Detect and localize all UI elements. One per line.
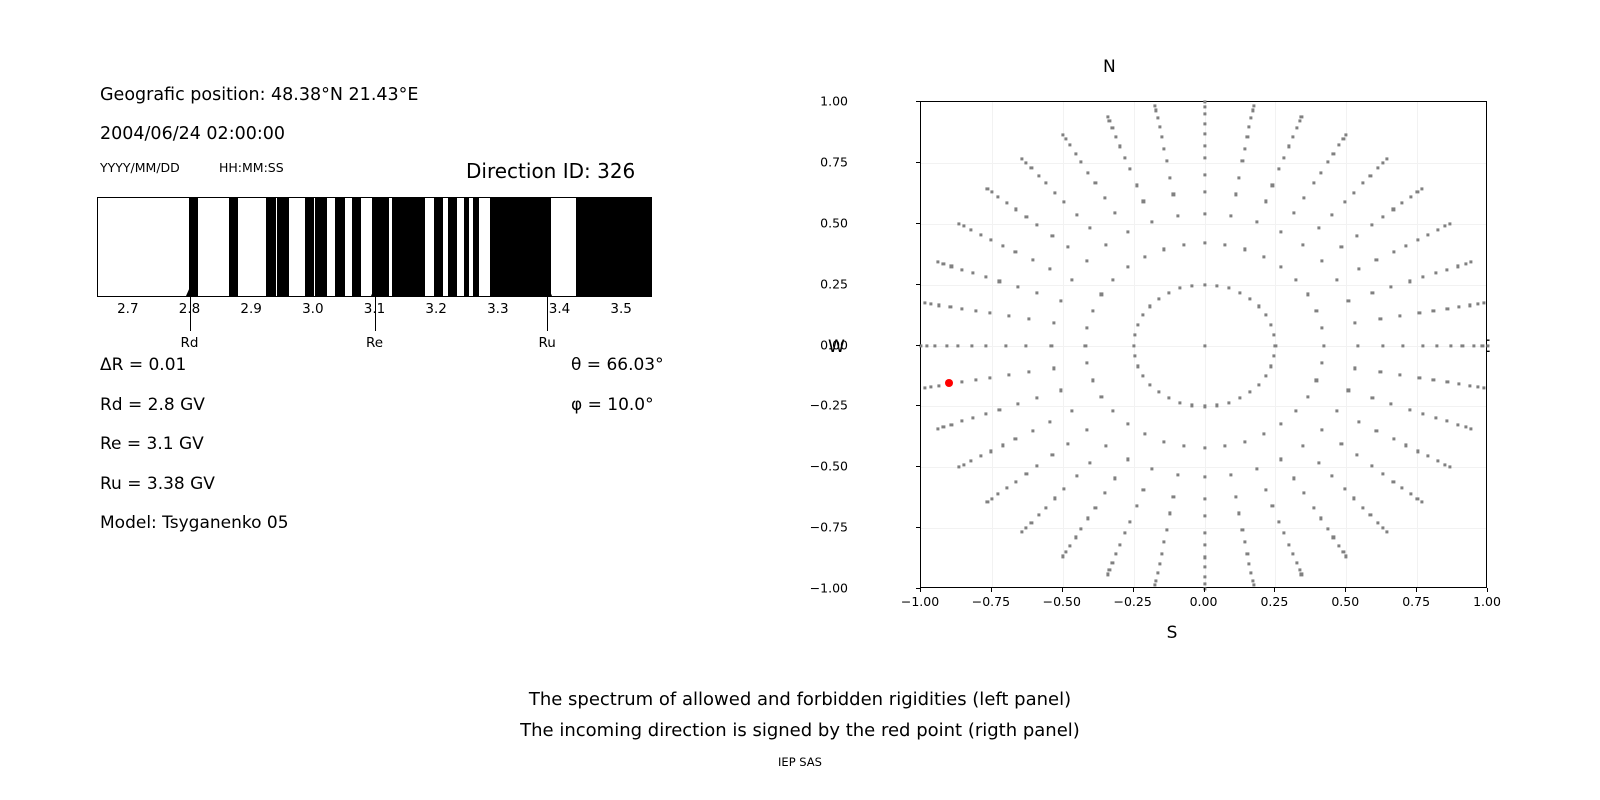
- direction-point: [1014, 438, 1017, 441]
- direction-point: [1371, 396, 1374, 399]
- direction-point: [1264, 200, 1267, 203]
- direction-point: [1482, 386, 1485, 389]
- direction-point: [1203, 446, 1206, 449]
- direction-point: [1227, 401, 1230, 404]
- direction-point: [1203, 132, 1206, 135]
- direction-point: [1432, 309, 1435, 312]
- direction-point: [1157, 391, 1160, 394]
- direction-point: [1292, 211, 1295, 214]
- direction-point: [1215, 284, 1218, 287]
- direction-point: [1320, 259, 1323, 262]
- scatter-ytick-mark: [916, 527, 920, 528]
- direction-point: [1278, 168, 1281, 171]
- direction-point: [1151, 467, 1154, 470]
- direction-point: [1119, 543, 1122, 546]
- direction-point: [1126, 422, 1129, 425]
- direction-point: [1104, 492, 1107, 495]
- scatter-ytick-label: −0.25: [810, 398, 848, 413]
- direction-point: [1036, 223, 1039, 226]
- direction-point: [1061, 555, 1064, 558]
- direction-point: [1111, 127, 1114, 130]
- spectrum-bands-area: [97, 197, 652, 297]
- direction-point: [1203, 156, 1206, 159]
- direction-point: [1361, 506, 1364, 509]
- direction-point: [1203, 497, 1206, 500]
- direction-point: [924, 386, 927, 389]
- direction-point: [1160, 135, 1163, 138]
- direction-point: [1086, 362, 1089, 365]
- forbidden-band: [335, 198, 344, 296]
- direction-point: [1315, 379, 1318, 382]
- direction-point: [1203, 191, 1206, 194]
- scatter-ytick-label: 0.50: [820, 215, 848, 230]
- direction-point: [1074, 152, 1077, 155]
- scatter-ytick-mark: [916, 162, 920, 163]
- direction-point: [1370, 223, 1373, 226]
- direction-point: [950, 423, 953, 426]
- direction-point: [1375, 259, 1378, 262]
- direction-point: [1398, 314, 1401, 317]
- direction-point: [1322, 344, 1325, 347]
- direction-point: [1421, 412, 1424, 415]
- direction-point: [1273, 354, 1276, 357]
- direction-point: [1088, 226, 1091, 229]
- direction-point: [1274, 344, 1277, 347]
- direction-point: [962, 463, 965, 466]
- direction-point: [1244, 248, 1247, 251]
- direction-point: [1203, 113, 1206, 116]
- direction-point: [1203, 514, 1206, 517]
- direction-point: [1361, 182, 1364, 185]
- direction-point: [1376, 167, 1379, 170]
- direction-point: [1224, 445, 1227, 448]
- direction-point: [1133, 333, 1136, 336]
- scatter-ytick-label: 0.25: [820, 276, 848, 291]
- direction-point: [1435, 416, 1438, 419]
- direction-point: [1404, 444, 1407, 447]
- parameter-line: Model: Tsyganenko 05: [100, 513, 289, 533]
- direction-point: [988, 311, 991, 314]
- direction-point: [1301, 445, 1304, 448]
- spectrum-x-axis: 2.72.82.93.03.13.23.33.43.5RdReRu: [97, 297, 652, 357]
- direction-point: [1048, 267, 1051, 270]
- direction-point: [1343, 200, 1346, 203]
- direction-point: [1477, 385, 1480, 388]
- direction-point: [1355, 234, 1358, 237]
- forbidden-band: [189, 198, 198, 296]
- direction-point: [1401, 344, 1404, 347]
- direction-point: [1250, 572, 1253, 575]
- direction-point: [1203, 100, 1206, 103]
- direction-point: [1248, 297, 1251, 300]
- direction-point: [1420, 500, 1423, 503]
- direction-point: [1182, 243, 1185, 246]
- direction-point: [1246, 135, 1249, 138]
- direction-point: [1155, 109, 1158, 112]
- rigidity-marker-re: [375, 287, 376, 331]
- direction-point: [1426, 233, 1429, 236]
- scatter-xtick-mark: [1274, 588, 1275, 592]
- direction-point: [1282, 156, 1285, 159]
- direction-point: [1243, 147, 1246, 150]
- direction-point: [1050, 344, 1053, 347]
- spectrum-xtick-label: 3.5: [610, 301, 631, 317]
- direction-point: [1143, 432, 1146, 435]
- direction-point: [1398, 374, 1401, 377]
- scatter-xtick-label: −0.50: [1043, 594, 1081, 609]
- direction-point: [1053, 191, 1056, 194]
- direction-point: [949, 305, 952, 308]
- direction-point: [1404, 244, 1407, 247]
- direction-point: [1271, 184, 1274, 187]
- direction-point: [1248, 391, 1251, 394]
- direction-point: [1392, 438, 1395, 441]
- direction-point: [1370, 464, 1373, 467]
- direction-point: [1024, 161, 1027, 164]
- scatter-ytick-mark: [916, 466, 920, 467]
- geographic-position-text: Geografic position: 48.38°N 21.43°E: [100, 85, 418, 105]
- direction-point: [937, 427, 940, 430]
- direction-point: [1112, 410, 1115, 413]
- direction-point: [1203, 122, 1206, 125]
- direction-point: [1132, 344, 1135, 347]
- angle-parameter-line: θ = 66.03°: [571, 355, 664, 375]
- direction-point: [1330, 474, 1333, 477]
- direction-point: [1294, 278, 1297, 281]
- direction-point: [1203, 344, 1206, 347]
- direction-point: [1234, 193, 1237, 196]
- direction-point: [989, 238, 992, 241]
- direction-point: [1084, 344, 1087, 347]
- direction-point: [1270, 323, 1273, 326]
- direction-point: [1025, 216, 1028, 219]
- datetime-text: 2004/06/24 02:00:00: [100, 124, 285, 144]
- direction-point: [1445, 268, 1448, 271]
- direction-point: [1326, 527, 1329, 530]
- direction-point: [970, 228, 973, 231]
- direction-point: [1086, 326, 1089, 329]
- direction-point: [1343, 488, 1346, 491]
- angle-parameter-line: φ = 10.0°: [571, 395, 654, 415]
- direction-point: [1457, 305, 1460, 308]
- direction-point: [984, 276, 987, 279]
- direction-point: [1100, 293, 1103, 296]
- direction-point: [1088, 461, 1091, 464]
- direction-point: [1080, 527, 1083, 530]
- scatter-ytick-label: 0.75: [820, 154, 848, 169]
- direction-point: [1005, 486, 1008, 489]
- direction-point: [925, 344, 928, 347]
- scatter-xtick-mark: [991, 588, 992, 592]
- direction-point: [1115, 552, 1118, 555]
- spectrum-xtick-label: 3.0: [302, 301, 323, 317]
- direction-point: [1002, 244, 1005, 247]
- gridline-vertical: [1417, 102, 1418, 587]
- direction-point: [1445, 420, 1448, 423]
- direction-point: [1165, 529, 1168, 532]
- direction-point: [934, 344, 937, 347]
- direction-point: [1158, 126, 1161, 129]
- forbidden-band: [352, 198, 361, 296]
- direction-point: [1358, 421, 1361, 424]
- direction-point: [1287, 145, 1290, 148]
- direction-point: [1300, 573, 1303, 576]
- direction-point: [1251, 579, 1254, 582]
- forbidden-band: [372, 198, 389, 296]
- direction-point: [938, 304, 941, 307]
- direction-point: [1086, 259, 1089, 262]
- direction-point: [1270, 365, 1273, 368]
- gridline-vertical: [992, 102, 993, 587]
- time-format-hint: HH:MM:SS: [219, 160, 284, 175]
- direction-id-text: Direction ID: 326: [466, 159, 635, 183]
- direction-point: [1389, 402, 1392, 405]
- direction-point: [1136, 365, 1139, 368]
- scatter-ytick-mark: [916, 405, 920, 406]
- direction-point: [1027, 317, 1030, 320]
- direction-point: [1115, 136, 1118, 139]
- direction-point: [1031, 259, 1034, 262]
- direction-point: [1352, 191, 1355, 194]
- direction-point: [1162, 248, 1165, 251]
- direction-point: [1278, 520, 1281, 523]
- direction-point: [1037, 514, 1040, 517]
- direction-point: [1392, 250, 1395, 253]
- direction-point: [1151, 220, 1154, 223]
- direction-point: [1354, 367, 1357, 370]
- direction-point: [1070, 410, 1073, 413]
- direction-point: [1094, 506, 1097, 509]
- rigidity-marker-label-re: Re: [366, 335, 383, 351]
- forbidden-band: [266, 198, 275, 296]
- direction-point: [1347, 389, 1350, 392]
- direction-point: [1094, 182, 1097, 185]
- direction-point: [1392, 208, 1395, 211]
- direction-point: [1482, 302, 1485, 305]
- direction-point: [1347, 299, 1350, 302]
- direction-point: [1156, 572, 1159, 575]
- direction-point: [1332, 536, 1335, 539]
- direction-point: [1104, 196, 1107, 199]
- direction-point: [1251, 109, 1254, 112]
- direction-point: [1354, 321, 1357, 324]
- direction-point: [971, 416, 974, 419]
- compass-label-north: N: [1103, 57, 1116, 77]
- direction-point: [929, 385, 932, 388]
- direction-point: [970, 344, 973, 347]
- forbidden-band: [305, 198, 314, 296]
- direction-point: [942, 426, 945, 429]
- direction-point: [1203, 583, 1206, 586]
- scatter-xtick-label: 0.75: [1402, 594, 1430, 609]
- direction-point: [1068, 544, 1071, 547]
- scatter-xtick-label: 0.00: [1190, 594, 1218, 609]
- direction-point: [1279, 230, 1282, 233]
- direction-point: [1318, 461, 1321, 464]
- direction-point: [1385, 530, 1388, 533]
- direction-point: [1119, 145, 1122, 148]
- direction-point: [1066, 443, 1069, 446]
- direction-point: [1061, 133, 1064, 136]
- direction-point: [1379, 371, 1382, 374]
- direction-point: [1162, 440, 1165, 443]
- rigidity-marker-label-ru: Ru: [538, 335, 555, 351]
- direction-point: [1111, 561, 1114, 564]
- direction-point: [1066, 245, 1069, 248]
- direction-point: [1052, 367, 1055, 370]
- direction-point: [1172, 495, 1175, 498]
- gridline-horizontal: [921, 224, 1486, 225]
- direction-point: [1379, 317, 1382, 320]
- direction-point: [1075, 213, 1078, 216]
- direction-point: [1014, 250, 1017, 253]
- direction-point: [1203, 556, 1206, 559]
- direction-point: [1392, 480, 1395, 483]
- direction-point: [1486, 344, 1489, 347]
- direction-point: [979, 455, 982, 458]
- direction-point: [1036, 464, 1039, 467]
- spectrum-xtick-label: 2.9: [240, 301, 261, 317]
- direction-point: [937, 261, 940, 264]
- scatter-ytick-label: −0.75: [810, 520, 848, 535]
- direction-point: [1105, 445, 1108, 448]
- scatter-xtick-label: 0.50: [1331, 594, 1359, 609]
- scatter-xtick-mark: [1133, 588, 1134, 592]
- rigidity-spectrum-panel: Geografic position: 48.38°N 21.43°E 2004…: [0, 0, 760, 660]
- gridline-horizontal: [921, 467, 1486, 468]
- direction-point: [1320, 326, 1323, 329]
- direction-point: [1464, 262, 1467, 265]
- direction-point: [1444, 225, 1447, 228]
- forbidden-band: [229, 198, 238, 296]
- direction-point: [1016, 402, 1019, 405]
- direction-point: [1074, 536, 1077, 539]
- direction-point: [950, 265, 953, 268]
- direction-point: [1300, 115, 1303, 118]
- direction-point: [1456, 423, 1459, 426]
- forbidden-band: [277, 198, 289, 296]
- direction-point: [1059, 299, 1062, 302]
- direction-point: [1340, 443, 1343, 446]
- direction-point: [1456, 265, 1459, 268]
- direction-point: [1326, 160, 1329, 163]
- direction-point: [1421, 344, 1424, 347]
- direction-point: [1007, 374, 1010, 377]
- direction-point: [1005, 201, 1008, 204]
- direction-point: [1262, 255, 1265, 258]
- direction-point: [1014, 208, 1017, 211]
- direction-point: [1298, 120, 1301, 123]
- direction-point: [1355, 453, 1358, 456]
- direction-point: [1248, 126, 1251, 129]
- scatter-ytick-label: 0.00: [820, 337, 848, 352]
- forbidden-band: [315, 198, 327, 296]
- parameter-line: Re = 3.1 GV: [100, 434, 204, 454]
- direction-point: [1435, 271, 1438, 274]
- direction-point: [1409, 195, 1412, 198]
- date-format-hint: YYYY/MM/DD: [100, 160, 180, 175]
- direction-point: [1371, 291, 1374, 294]
- direction-point: [1091, 379, 1094, 382]
- direction-point: [938, 384, 941, 387]
- scatter-ytick-mark: [916, 223, 920, 224]
- scatter-xtick-mark: [1416, 588, 1417, 592]
- direction-point: [1250, 116, 1253, 119]
- direction-point: [960, 307, 963, 310]
- caption-line-1: The spectrum of allowed and forbidden ri…: [0, 684, 1600, 715]
- direction-point: [1477, 302, 1480, 305]
- direction-point: [1053, 497, 1056, 500]
- direction-point: [1135, 504, 1138, 507]
- direction-point: [979, 233, 982, 236]
- direction-point: [1295, 561, 1298, 564]
- direction-point: [1203, 544, 1206, 547]
- direction-point: [1149, 305, 1152, 308]
- direction-point: [1063, 488, 1066, 491]
- direction-point: [1320, 428, 1323, 431]
- direction-point: [1352, 497, 1355, 500]
- direction-point: [1264, 488, 1267, 491]
- direction-point: [1306, 293, 1309, 296]
- incoming-direction-marker: [945, 379, 953, 387]
- scatter-xtick-label: −1.00: [901, 594, 939, 609]
- direction-point: [971, 271, 974, 274]
- direction-point: [1064, 137, 1067, 140]
- direction-point: [1035, 291, 1038, 294]
- scatter-xtick-label: −0.25: [1113, 594, 1151, 609]
- direction-point: [1068, 144, 1071, 147]
- direction-point: [1421, 276, 1424, 279]
- direction-point: [1287, 543, 1290, 546]
- direction-point: [1408, 280, 1411, 283]
- direction-point: [1292, 477, 1295, 480]
- direction-point: [1418, 311, 1421, 314]
- direction-point: [1319, 517, 1322, 520]
- direction-point: [1481, 344, 1484, 347]
- direction-point: [985, 344, 988, 347]
- direction-point: [1389, 286, 1392, 289]
- direction-point: [1246, 553, 1249, 556]
- direction-point: [1469, 261, 1472, 264]
- direction-point: [942, 262, 945, 265]
- direction-point: [1381, 472, 1384, 475]
- direction-point: [1335, 278, 1338, 281]
- scatter-ytick-mark: [916, 101, 920, 102]
- direction-point: [1227, 287, 1230, 290]
- direction-point: [1179, 401, 1182, 404]
- direction-point: [1381, 527, 1384, 530]
- compass-label-south: S: [1167, 623, 1178, 643]
- direction-point: [1051, 234, 1054, 237]
- scatter-xtick-label: 0.25: [1260, 594, 1288, 609]
- direction-point: [1154, 104, 1157, 107]
- direction-point: [1091, 309, 1094, 312]
- direction-point: [1128, 520, 1131, 523]
- direction-point: [1294, 410, 1297, 413]
- direction-point: [1444, 463, 1447, 466]
- direction-point: [1167, 291, 1170, 294]
- direction-point: [1237, 512, 1240, 515]
- direction-point: [1369, 514, 1372, 517]
- direction-point: [1255, 220, 1258, 223]
- direction-point: [1340, 245, 1343, 248]
- direction-point: [1007, 314, 1010, 317]
- direction-point: [1149, 383, 1152, 386]
- direction-point: [1157, 297, 1160, 300]
- direction-point: [1086, 428, 1089, 431]
- direction-point: [1142, 488, 1145, 491]
- direction-point: [1264, 374, 1267, 377]
